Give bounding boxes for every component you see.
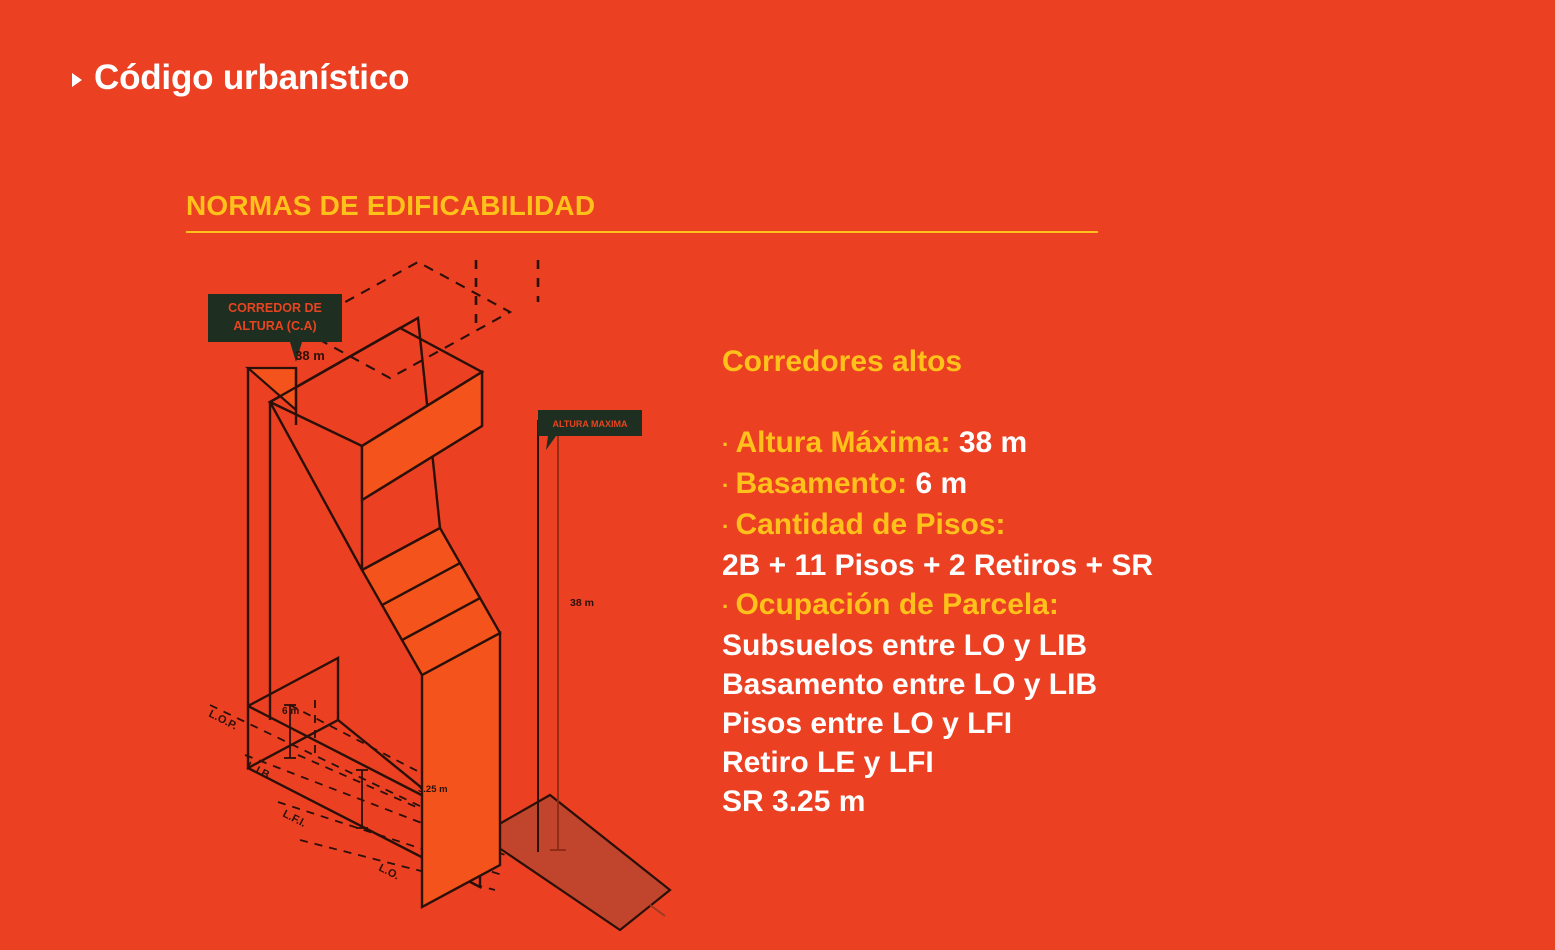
callout-corredor-line1: CORREDOR DE [228,301,322,315]
parcel-label-lop: L.O.P. [207,708,240,732]
tower-main-volume [422,633,500,907]
dimension-max-height: 38 m [570,597,594,609]
info-panel: Corredores altos · Altura Máxima: 38 m· … [722,345,1342,821]
info-line-label: Cantidad de Pisos: [735,508,1005,541]
info-line-label: Ocupación de Parcela: [735,588,1058,621]
info-line: Basamento entre LO y LIB [722,665,1342,704]
info-line-value: Retiro LE y LFI [722,746,934,779]
info-line: Retiro LE y LFI [722,743,1342,782]
callout-corredor-altura: CORREDOR DE ALTURA (C.A) 38 m [208,294,342,363]
info-line-label: Basamento: [735,467,907,500]
info-line-value: Pisos entre LO y LFI [722,707,1012,740]
slide-header: Código urbanístico [72,58,409,98]
info-line-list: · Altura Máxima: 38 m· Basamento: 6 m· C… [722,423,1342,821]
callout-altura-maxima: ALTURA MAXIMA [538,410,642,450]
info-line: · Altura Máxima: 38 m [722,423,1342,464]
info-line: Pisos entre LO y LFI [722,704,1342,743]
info-line-value: Basamento entre LO y LIB [722,668,1097,701]
triangle-right-icon [72,73,82,87]
parcel-label-lib: L.I.B. [245,760,274,783]
dimension-basement-height: 6 m [282,706,299,717]
top-dashed-verticals [476,260,538,328]
building-envelope-diagram: CORREDOR DE ALTURA (C.A) 38 m ALTURA MAX… [150,250,730,940]
info-line: · Cantidad de Pisos: [722,505,1342,546]
section-divider [186,231,1098,233]
section-block: NORMAS DE EDIFICABILIDAD [186,190,1098,233]
info-line-label: Altura Máxima: [735,426,950,459]
info-line-value: SR 3.25 m [722,785,865,818]
info-line: · Basamento: 6 m [722,464,1342,505]
info-line-value: 2B + 11 Pisos + 2 Retiros + SR [722,549,1153,582]
page-title: Código urbanístico [94,58,409,98]
info-subtitle: Corredores altos [722,345,1342,379]
info-line: SR 3.25 m [722,782,1342,821]
corner-wedge [248,368,296,425]
slide-canvas: Código urbanístico NORMAS DE EDIFICABILI… [0,0,1555,950]
section-heading: NORMAS DE EDIFICABILIDAD [186,190,1098,222]
street-strip [480,795,670,930]
right-envelope-guides [500,420,538,865]
callout-altura-maxima-label: ALTURA MAXIMA [553,419,628,429]
callout-corredor-line2: ALTURA (C.A) [233,319,316,333]
info-line-value: 6 m [907,467,967,500]
parcel-label-lo: L.O. [377,862,402,882]
info-line: · Ocupación de Parcela: [722,585,1342,626]
tower-top-block-face [362,372,482,500]
info-line: Subsuelos entre LO y LIB [722,626,1342,665]
info-line-value: Subsuelos entre LO y LIB [722,629,1087,662]
dimension-ca-height: 38 m [295,348,325,363]
info-line-value: 38 m [951,426,1028,459]
max-height-dimension [550,420,566,850]
parcel-label-lfi: L.F.I. [281,808,308,830]
dimension-sr-height: 3.25 m [418,784,448,795]
info-line: 2B + 11 Pisos + 2 Retiros + SR [722,546,1342,585]
